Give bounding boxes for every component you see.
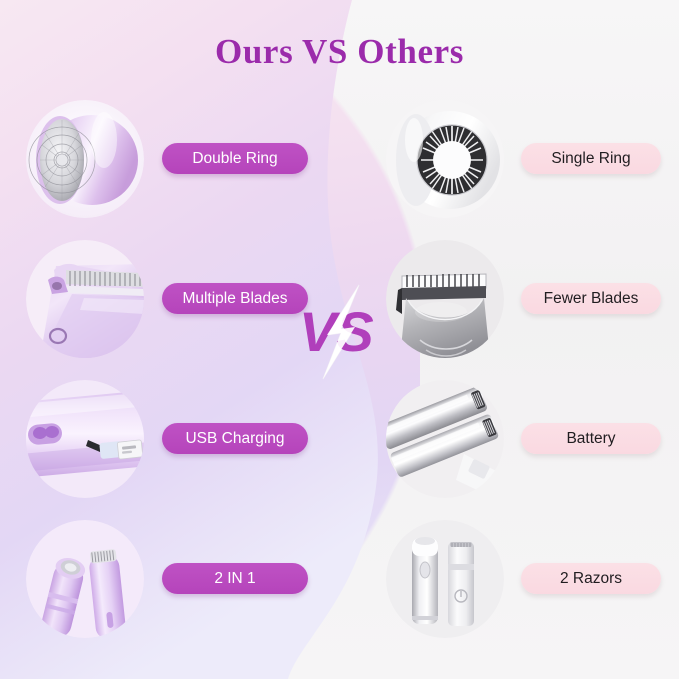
label-ours-usb-charging[interactable]: USB Charging — [162, 423, 308, 454]
label-ours-double-ring[interactable]: Double Ring — [162, 143, 308, 174]
label-others-battery[interactable]: Battery — [521, 423, 661, 454]
product-image-others-two-razors — [386, 520, 504, 638]
label-others-two-razors[interactable]: 2 Razors — [521, 563, 661, 594]
product-image-others-single-ring — [386, 100, 504, 218]
label-others-single-ring[interactable]: Single Ring — [521, 143, 661, 174]
comparison-row: 2 IN 1 — [0, 512, 679, 652]
product-image-ours-multiple-blades — [26, 240, 144, 358]
product-image-others-fewer-blades — [386, 240, 504, 358]
product-image-others-battery — [386, 380, 504, 498]
comparison-infographic: Ours VS Others — [0, 0, 679, 679]
product-image-ours-double-ring — [26, 100, 144, 218]
page-title: Ours VS Others — [0, 32, 679, 72]
label-others-fewer-blades[interactable]: Fewer Blades — [521, 283, 661, 314]
comparison-row: Double Ring — [0, 92, 679, 232]
product-image-ours-two-in-one — [26, 520, 144, 638]
product-image-ours-usb-charging — [26, 380, 144, 498]
lightning-bolt-icon: VS — [297, 283, 389, 381]
label-ours-multiple-blades[interactable]: Multiple Blades — [162, 283, 308, 314]
comparison-row: USB Charging — [0, 372, 679, 512]
label-ours-two-in-one[interactable]: 2 IN 1 — [162, 563, 308, 594]
versus-badge: VS — [297, 283, 389, 381]
